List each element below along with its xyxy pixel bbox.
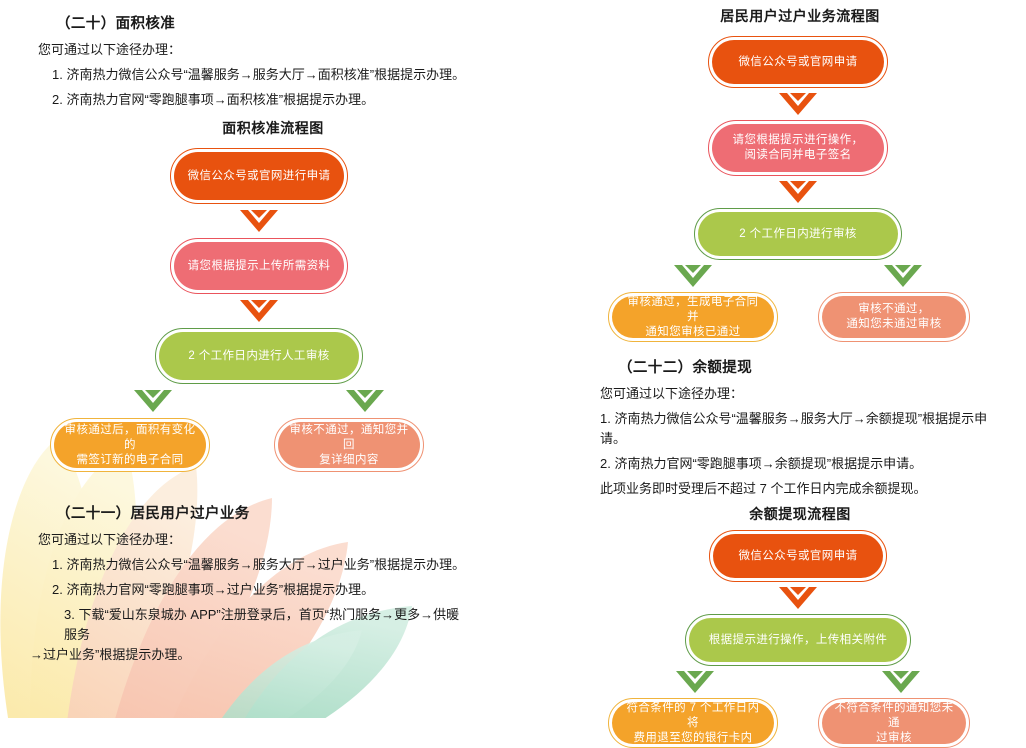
section-21-line-3: 3. 下载“爱山东泉城办 APP”注册登录后，首页“热门服务→更多→供暖服务	[64, 605, 468, 645]
flow2-row2: 请您根据提示进行操作， 阅读合同并电子签名	[628, 120, 968, 176]
flow2-row3: 2 个工作日内进行审核	[628, 208, 968, 260]
flow2-node-rejected-label: 审核不通过， 通知您未通过审核	[822, 296, 966, 338]
chevron-down-icon	[344, 388, 386, 414]
section-21-line-1: 1. 济南热力微信公众号“温馨服务→服务大厅→过户业务”根据提示办理。	[52, 555, 468, 575]
section-22-line-0: 您可通过以下途径办理：	[600, 384, 1000, 404]
chevron-down-icon	[777, 179, 819, 205]
flow1-row1: 微信公众号或官网进行申请	[94, 148, 424, 204]
chevron-down-icon	[674, 669, 716, 695]
flow1-node-approved-label: 审核通过后，面积有变化的 需签订新的电子合同	[54, 422, 206, 468]
section-22-line-3: 此项业务即时受理后不超过 7 个工作日内完成余额提现。	[600, 479, 1000, 499]
section-21-line-4: →过户业务”根据提示办理。	[30, 645, 468, 665]
flow1-node-apply[interactable]: 微信公众号或官网进行申请	[170, 148, 348, 204]
flow1-node-approved[interactable]: 审核通过后，面积有变化的 需签订新的电子合同	[50, 418, 210, 472]
flow2-node-sign[interactable]: 请您根据提示进行操作， 阅读合同并电子签名	[708, 120, 888, 176]
flow2-node-approved-label: 审核通过，生成电子合同并 通知您审核已通过	[612, 296, 774, 338]
flow3-node-ineligible[interactable]: 不符合条件的通知您未通 过审核	[818, 698, 970, 748]
flow2-node-sign-label: 请您根据提示进行操作， 阅读合同并电子签名	[712, 124, 884, 172]
flow3-node-upload[interactable]: 根据提示进行操作，上传相关附件	[685, 614, 911, 666]
withdrawal-chart-title: 余额提现流程图	[600, 504, 1000, 524]
withdrawal-flowchart: 微信公众号或官网申请 根据提示进行操作，上传相关附件	[628, 530, 968, 748]
section-area-approval: （二十）面积核准 您可通过以下途径办理： 1. 济南热力微信公众号“温馨服务→服…	[38, 0, 468, 472]
flow2-node-review-label: 2 个工作日内进行审核	[698, 212, 898, 256]
flow1-node-rejected[interactable]: 审核不通过，通知您并回 复详细内容	[274, 418, 424, 472]
flow2-node-review[interactable]: 2 个工作日内进行审核	[694, 208, 902, 260]
flow1-chevron-2-slot	[94, 298, 424, 324]
chevron-down-icon	[238, 298, 280, 324]
flow3-row3: 符合条件的 7 个工作日内将 费用退至您的银行卡内 不符合条件的通知您未通 过审…	[608, 698, 970, 748]
chevron-down-icon	[777, 91, 819, 117]
left-column: （二十）面积核准 您可通过以下途径办理： 1. 济南热力微信公众号“温馨服务→服…	[38, 0, 468, 670]
flow3-row2: 根据提示进行操作，上传相关附件	[628, 614, 968, 666]
chevron-down-icon	[132, 388, 174, 414]
flow1-node-review[interactable]: 2 个工作日内进行人工审核	[155, 328, 363, 384]
flow2-chevron-2-slot	[628, 179, 968, 205]
flow2-chevron-1-slot	[628, 91, 968, 117]
section-21-heading: （二十一）居民用户过户业务	[56, 502, 468, 523]
flow3-node-eligible-label: 符合条件的 7 个工作日内将 费用退至您的银行卡内	[612, 702, 774, 744]
section-22-heading: （二十二）余额提现	[618, 356, 1000, 377]
section-20-heading: （二十）面积核准	[56, 12, 468, 33]
flow1-node-upload-label: 请您根据提示上传所需资料	[174, 242, 344, 290]
flow3-node-apply-label: 微信公众号或官网申请	[713, 534, 883, 578]
chevron-down-icon	[882, 263, 924, 289]
section-21-line-0: 您可通过以下途径办理：	[38, 530, 468, 550]
flow3-chevron-1-slot	[628, 585, 968, 611]
flow1-node-apply-label: 微信公众号或官网进行申请	[174, 152, 344, 200]
section-balance-withdrawal: （二十二）余额提现 您可通过以下途径办理： 1. 济南热力微信公众号“温馨服务→…	[600, 356, 1000, 748]
flow1-node-upload[interactable]: 请您根据提示上传所需资料	[170, 238, 348, 294]
transfer-chart-title: 居民用户过户业务流程图	[600, 6, 1000, 26]
flow3-node-eligible[interactable]: 符合条件的 7 个工作日内将 费用退至您的银行卡内	[608, 698, 778, 748]
area-approval-flowchart: 微信公众号或官网进行申请 请您根据提示上传所需资料	[94, 148, 424, 472]
chevron-down-icon	[238, 208, 280, 234]
flow1-chevron-1-slot	[94, 208, 424, 234]
flow1-row2: 请您根据提示上传所需资料	[94, 238, 424, 294]
section-21-line-2: 2. 济南热力官网“零跑腿事项→过户业务”根据提示办理。	[52, 580, 468, 600]
flow3-branch-chevrons	[628, 669, 968, 695]
flow1-node-rejected-label: 审核不通过，通知您并回 复详细内容	[278, 422, 420, 468]
flow2-row4: 审核通过，生成电子合同并 通知您审核已通过 审核不通过， 通知您未通过审核	[608, 292, 970, 342]
chevron-down-icon	[672, 263, 714, 289]
section-22-line-1: 1. 济南热力微信公众号“温馨服务→服务大厅→余额提现”根据提示申请。	[600, 409, 1000, 449]
area-approval-chart-title: 面积核准流程图	[78, 118, 468, 138]
chevron-down-icon	[880, 669, 922, 695]
section-20-line-1: 1. 济南热力微信公众号“温馨服务→服务大厅→面积核准”根据提示办理。	[52, 65, 468, 85]
flow2-row1: 微信公众号或官网申请	[628, 36, 968, 88]
flow2-node-apply[interactable]: 微信公众号或官网申请	[708, 36, 888, 88]
flow2-branch-chevrons	[628, 263, 968, 289]
flow3-node-apply[interactable]: 微信公众号或官网申请	[709, 530, 887, 582]
flow1-row3: 2 个工作日内进行人工审核	[94, 328, 424, 384]
chevron-down-icon	[777, 585, 819, 611]
flow2-node-approved[interactable]: 审核通过，生成电子合同并 通知您审核已通过	[608, 292, 778, 342]
flow1-node-review-label: 2 个工作日内进行人工审核	[159, 332, 359, 380]
section-20-line-0: 您可通过以下途径办理：	[38, 40, 468, 60]
flow3-row1: 微信公众号或官网申请	[628, 530, 968, 582]
section-20-line-2: 2. 济南热力官网“零跑腿事项→面积核准”根据提示办理。	[52, 90, 468, 110]
flow2-node-rejected[interactable]: 审核不通过， 通知您未通过审核	[818, 292, 970, 342]
transfer-flowchart: 微信公众号或官网申请 请您根据提示进行操作， 阅读合同并电子签名	[628, 36, 968, 342]
flow3-node-upload-label: 根据提示进行操作，上传相关附件	[689, 618, 907, 662]
flow1-branch-chevrons	[94, 388, 424, 414]
section-resident-transfer: （二十一）居民用户过户业务 您可通过以下途径办理： 1. 济南热力微信公众号“温…	[38, 502, 468, 665]
flow3-node-ineligible-label: 不符合条件的通知您未通 过审核	[822, 702, 966, 744]
flow1-row4: 审核通过后，面积有变化的 需签订新的电子合同 审核不通过，通知您并回 复详细内容	[50, 418, 424, 472]
right-column: 居民用户过户业务流程图 微信公众号或官网申请 请您根据提示进行操作， 阅读合同并…	[600, 0, 1000, 748]
transfer-flowchart-block: 居民用户过户业务流程图 微信公众号或官网申请 请您根据提示进行操作， 阅读合同并…	[600, 0, 1000, 342]
section-22-line-2: 2. 济南热力官网“零跑腿事项→余额提现”根据提示申请。	[600, 454, 1000, 474]
flow2-node-apply-label: 微信公众号或官网申请	[712, 40, 884, 84]
